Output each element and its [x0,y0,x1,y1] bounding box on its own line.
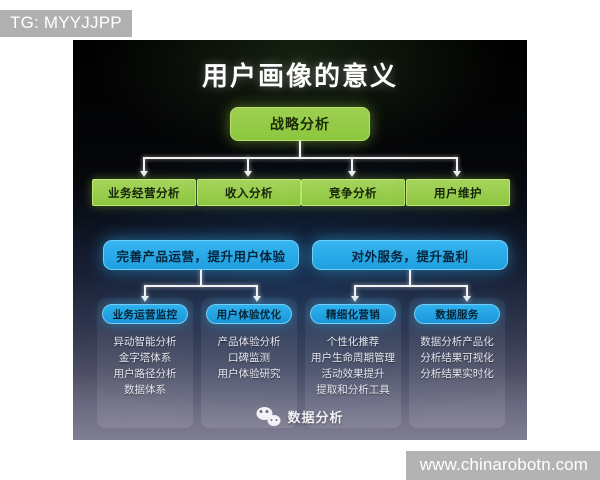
node-external-service-profit[interactable]: 对外服务，提升盈利 [312,240,508,270]
connector-drop-4 [456,157,458,172]
node-refined-marketing[interactable]: 精细化营销 [310,304,396,324]
site-url-watermark: www.chinarobotn.com [406,451,600,480]
list-item: 用户生命周期管理 [311,350,395,366]
node-business-operation-analysis[interactable]: 业务经营分析 [92,179,196,206]
wechat-footer: 数据分析 [256,407,343,426]
list-item: 数据体系 [124,382,166,398]
list-item: 用户路径分析 [114,366,177,382]
slide-content: 用户画像的意义 战略分析 业务经营分析 收入分析 竞争分析 用户维护 完善产品运… [73,40,527,440]
connector-right-bus [354,285,468,287]
detail-list-4: 数据分析产品化 分析结果可视化 分析结果实时化 [407,334,507,382]
node-competition-analysis[interactable]: 竞争分析 [301,179,405,206]
node-revenue-analysis[interactable]: 收入分析 [197,179,301,206]
detail-list-2: 产品体验分析 口碑监测 用户体验研究 [201,334,297,382]
connector-drop-1 [143,157,145,172]
node-business-operation-monitoring[interactable]: 业务运营监控 [102,304,188,324]
connector-left-stem [200,270,202,286]
wechat-account-name: 数据分析 [287,407,343,426]
arrow-down-2 [244,171,252,177]
list-item: 分析结果实时化 [420,366,494,382]
list-item: 口碑监测 [228,350,270,366]
detail-list-1: 异动智能分析 金字塔体系 用户路径分析 数据体系 [97,334,193,398]
arrow-down-3 [348,171,356,177]
node-improve-product-experience[interactable]: 完善产品运营，提升用户体验 [103,240,299,270]
arrow-down-4 [453,171,461,177]
list-item: 个性化推荐 [327,334,380,350]
wechat-icon [256,407,280,426]
node-user-retention[interactable]: 用户维护 [406,179,510,206]
list-item: 用户体验研究 [218,366,281,382]
list-item: 金字塔体系 [119,350,172,366]
list-item: 分析结果可视化 [420,350,494,366]
node-data-service[interactable]: 数据服务 [414,304,500,324]
telegram-watermark-badge: TG: MYYJJPP [0,10,132,37]
node-user-experience-optimization[interactable]: 用户体验优化 [206,304,292,324]
connector-drop-3 [351,157,353,172]
detail-list-3: 个性化推荐 用户生命周期管理 活动效果提升 提取和分析工具 [303,334,403,398]
slide-panel: 用户画像的意义 战略分析 业务经营分析 收入分析 竞争分析 用户维护 完善产品运… [73,40,527,440]
connector-drop-2 [247,157,249,172]
connector-root-stem [299,141,301,158]
node-strategy-analysis[interactable]: 战略分析 [230,107,370,141]
page-title: 用户画像的意义 [73,56,527,93]
list-item: 提取和分析工具 [316,382,390,398]
list-item: 产品体验分析 [218,334,281,350]
list-item: 异动智能分析 [114,334,177,350]
list-item: 数据分析产品化 [420,334,494,350]
connector-left-bus [144,285,258,287]
connector-right-stem [409,270,411,286]
list-item: 活动效果提升 [322,366,385,382]
arrow-down-1 [140,171,148,177]
connector-root-bus [143,157,458,159]
